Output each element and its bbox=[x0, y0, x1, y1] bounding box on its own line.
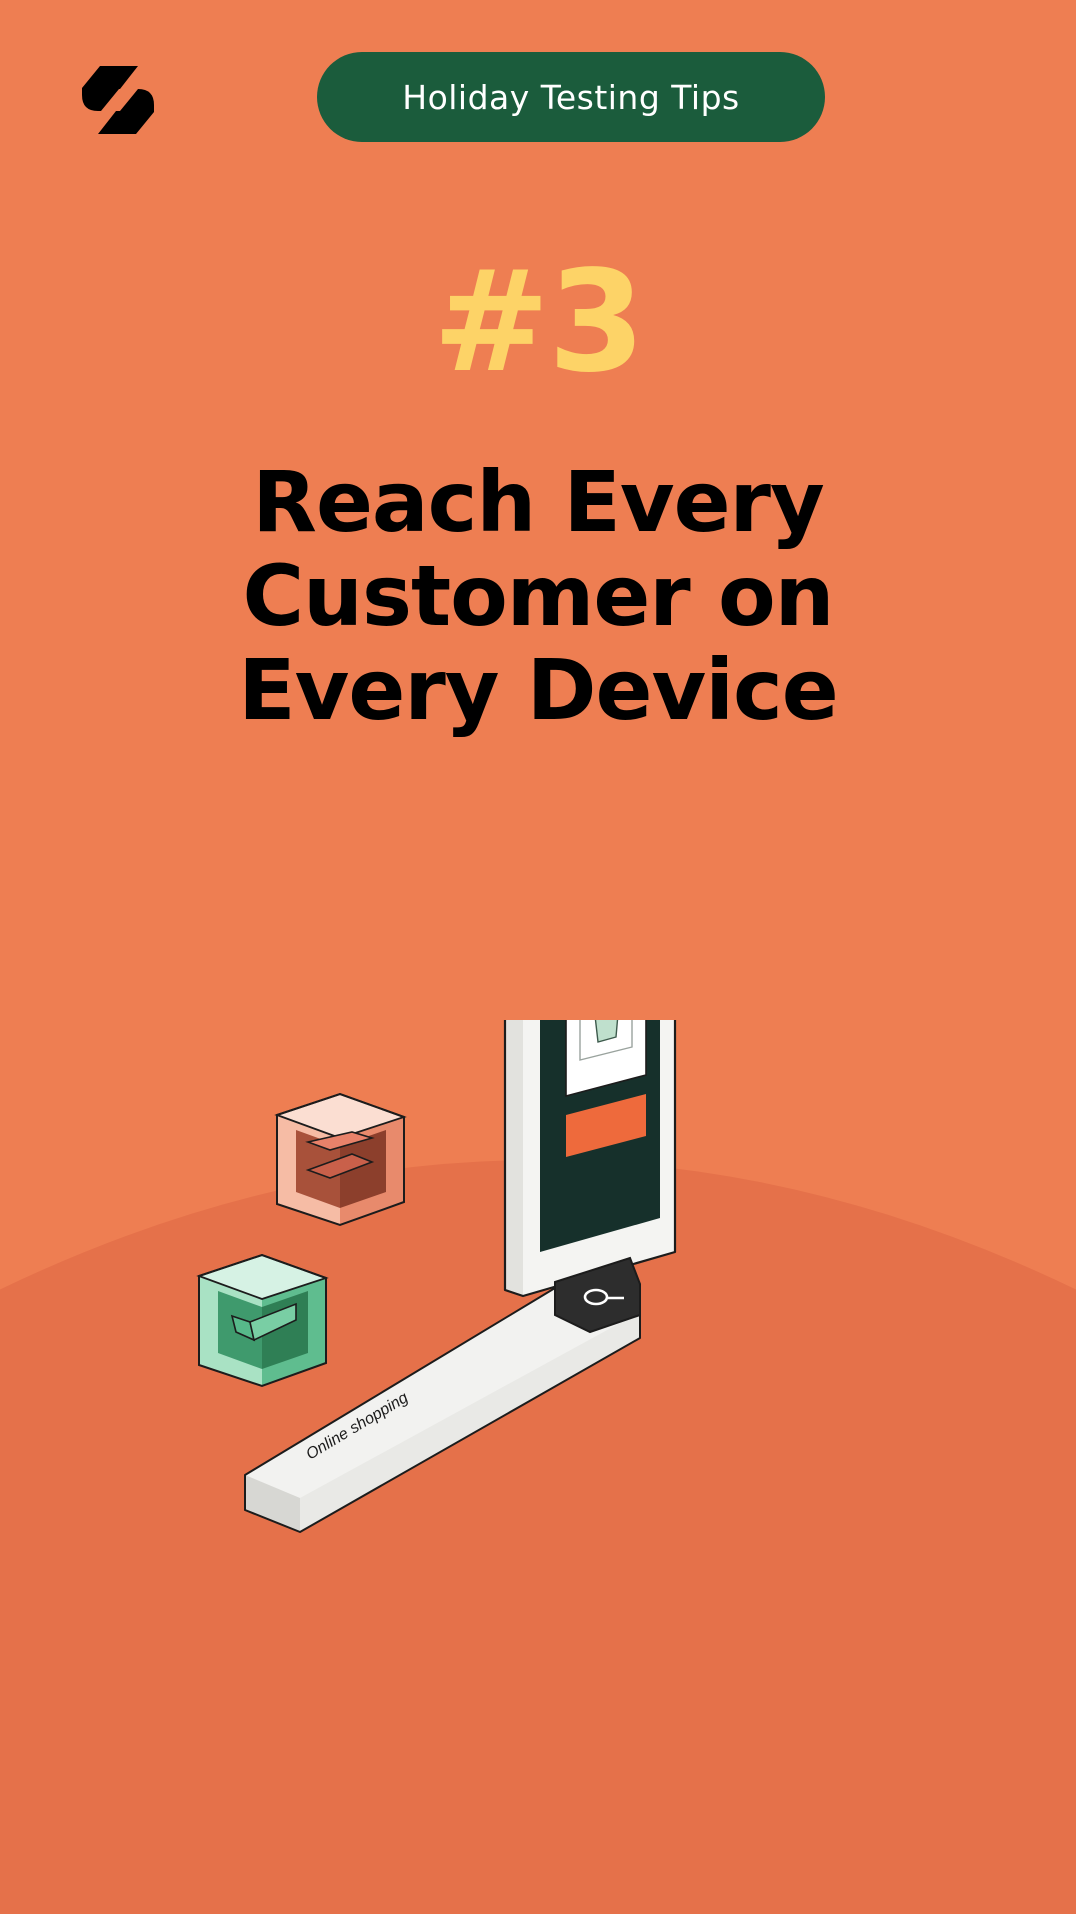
page-title: Reach Every Customer on Every Device bbox=[0, 455, 1076, 737]
badge-holiday-testing-tips[interactable]: Holiday Testing Tips bbox=[317, 52, 825, 142]
illustration-isometric-devices: Online shopping bbox=[0, 1020, 1076, 1914]
header: Holiday Testing Tips bbox=[0, 0, 1076, 190]
headline-line-3: Every Device bbox=[0, 643, 1076, 737]
phone-device bbox=[505, 1020, 675, 1296]
success-box bbox=[199, 1255, 326, 1386]
headline-line-1: Reach Every bbox=[0, 455, 1076, 549]
tip-number: #3 bbox=[0, 253, 1076, 393]
badge-label: Holiday Testing Tips bbox=[402, 78, 740, 117]
brand-logo-icon[interactable] bbox=[70, 50, 168, 148]
headline-line-2: Customer on bbox=[0, 549, 1076, 643]
poster-canvas: Holiday Testing Tips #3 Reach Every Cust… bbox=[0, 0, 1076, 1914]
error-box bbox=[277, 1094, 404, 1225]
